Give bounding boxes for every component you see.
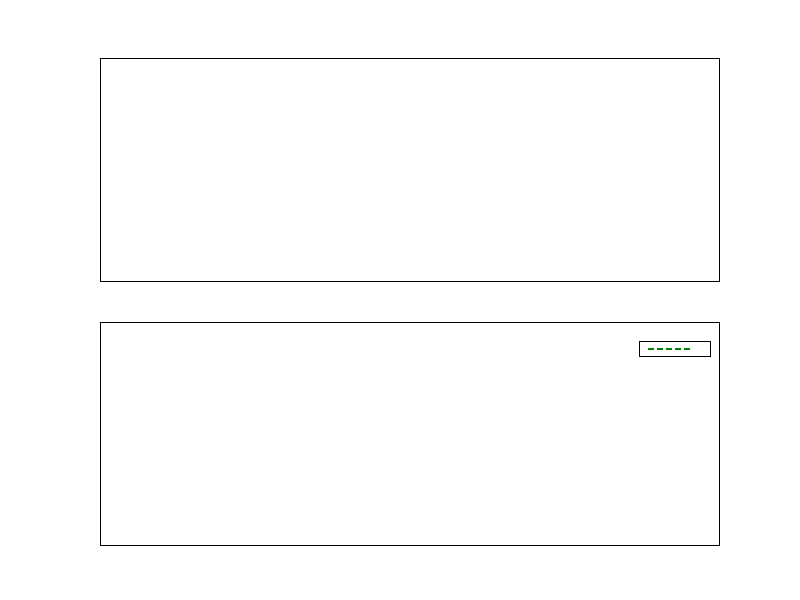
- top-axes-differential-histogram: [100, 58, 720, 282]
- top-plot-area: [101, 59, 719, 281]
- figure-canvas: [0, 0, 800, 600]
- mag-limit-line-swatch: [648, 348, 690, 350]
- cumulative-curve-svg: [101, 323, 719, 545]
- bottom-axes-cumulative-histogram: [100, 322, 720, 546]
- bottom-plot-area: [101, 323, 719, 545]
- legend-box: [639, 341, 711, 357]
